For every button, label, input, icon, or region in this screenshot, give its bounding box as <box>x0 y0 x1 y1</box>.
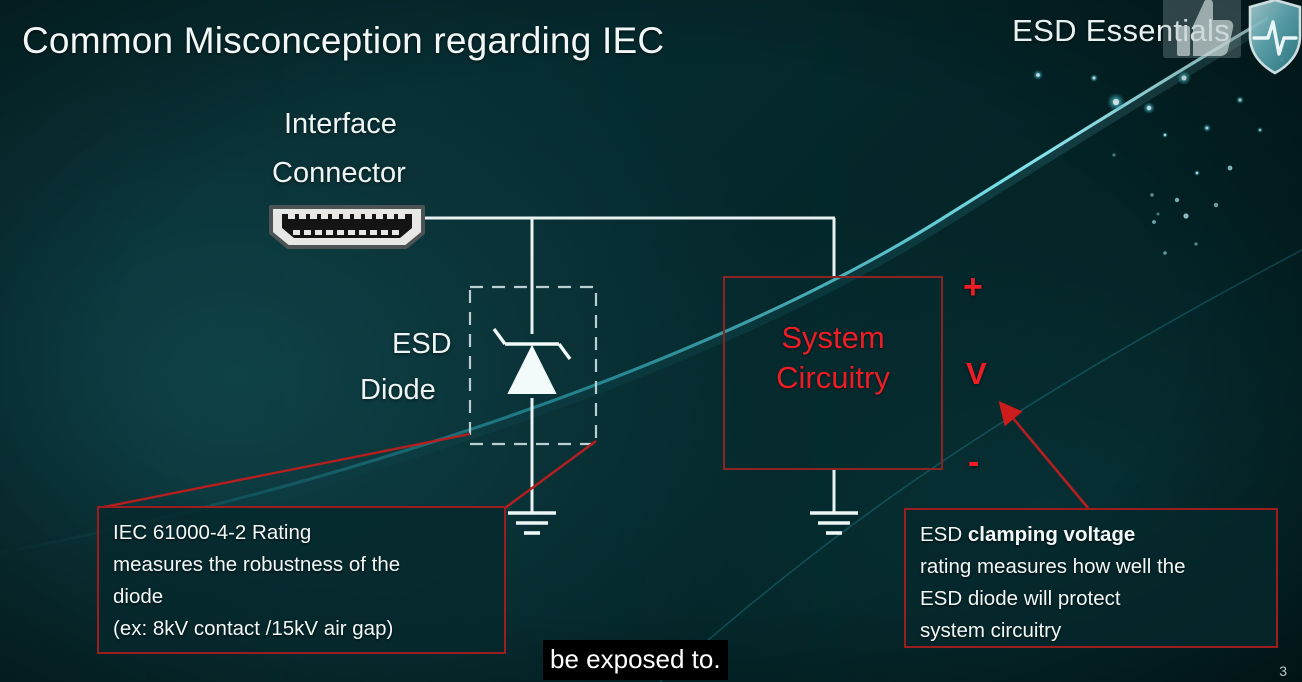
slide-canvas: Common Misconception regarding IEC ESD E… <box>0 0 1302 682</box>
page-number: 3 <box>1279 663 1287 679</box>
callout-left-line4: (ex: 8kV contact /15kV air gap) <box>113 613 490 645</box>
page-title: Common Misconception regarding IEC <box>22 20 664 62</box>
callout-left-line3: diode <box>113 581 490 613</box>
thumbs-up-icon <box>1163 0 1241 58</box>
esd-diode-symbol <box>494 329 570 393</box>
callout-right-line1: ESD clamping voltage <box>920 519 1262 551</box>
interface-connector-label-line2: Connector <box>272 157 406 190</box>
polarity-plus-label: + <box>963 268 983 307</box>
shield-pulse-logo-icon <box>1246 0 1302 76</box>
callout-left-line2: measures the robustness of the <box>113 549 490 581</box>
callout-right-prefix: ESD <box>920 523 968 546</box>
interface-connector-icon <box>266 203 428 251</box>
callout-right: ESD clamping voltage rating measures how… <box>904 508 1278 648</box>
voltage-label: V <box>966 356 987 392</box>
system-circuitry-line1: System <box>723 318 943 358</box>
callout-left-line1: IEC 61000-4-2 Rating <box>113 517 490 549</box>
esd-diode-label-line1: ESD <box>392 328 452 361</box>
system-circuitry-label: System Circuitry <box>723 318 943 398</box>
interface-connector-label-line1: Interface <box>284 108 397 141</box>
polarity-minus-label: - <box>968 443 979 482</box>
callout-left: IEC 61000-4-2 Rating measures the robust… <box>97 506 506 654</box>
callout-right-line3: ESD diode will protect <box>920 583 1262 615</box>
esd-diode-label-line2: Diode <box>360 374 436 407</box>
callout-right-bold: clamping voltage <box>968 523 1135 546</box>
system-circuitry-line2: Circuitry <box>723 358 943 398</box>
video-caption: be exposed to. <box>543 640 728 680</box>
callout-right-line2: rating measures how well the <box>920 551 1262 583</box>
callout-right-line4: system circuitry <box>920 615 1262 647</box>
